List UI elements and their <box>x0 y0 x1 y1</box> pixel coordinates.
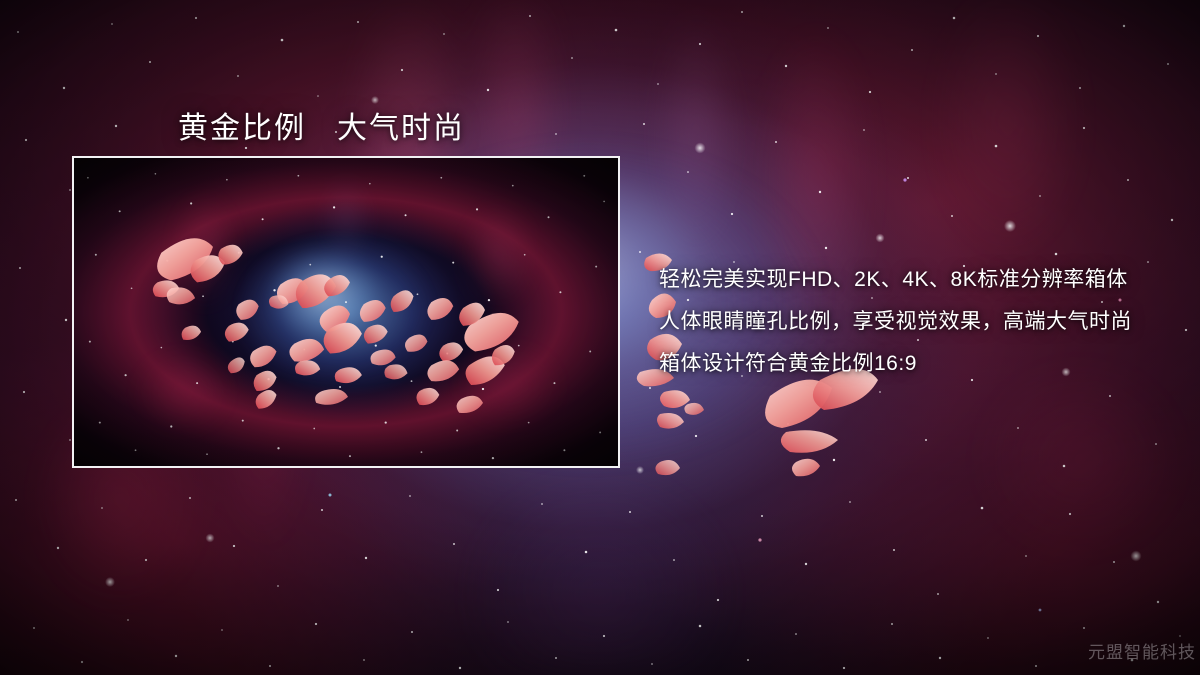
company-watermark: 元盟智能科技 <box>1088 638 1196 663</box>
body-line-3: 箱体设计符合黄金比例16:9 <box>659 343 1159 385</box>
slide-title: 黄金比例 大气时尚 <box>178 103 465 147</box>
nebula-image-frame <box>72 156 620 468</box>
frame-vignette <box>74 158 618 466</box>
presentation-slide: 黄金比例 大气时尚 轻松完美实现FHD、2K、4K、8K标准分辨率箱体 人体眼睛… <box>0 0 1200 675</box>
body-line-2: 人体眼睛瞳孔比例，享受视觉效果，高端大气时尚 <box>659 301 1159 343</box>
body-line-1: 轻松完美实现FHD、2K、4K、8K标准分辨率箱体 <box>659 259 1159 301</box>
slide-body-text: 轻松完美实现FHD、2K、4K、8K标准分辨率箱体 人体眼睛瞳孔比例，享受视觉效… <box>659 259 1159 385</box>
